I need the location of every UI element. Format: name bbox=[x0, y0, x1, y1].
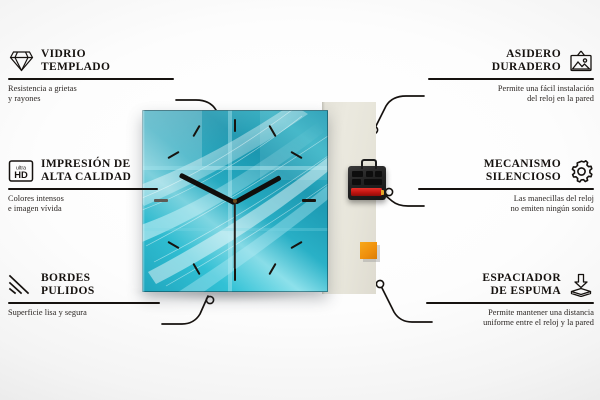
feature-description: Resistencia a grietas y rayones bbox=[8, 84, 204, 105]
feature-title: VIDRIO TEMPLADO bbox=[41, 48, 110, 74]
feature-espaciador-de-espuma: ESPACIADOR DE ESPUMA Permite mantener un… bbox=[398, 272, 594, 328]
feature-vidrio-templado: VIDRIO TEMPLADO Resistencia a grietas y … bbox=[8, 48, 204, 104]
feature-header: ultra HD IMPRESIÓN DE ALTA CALIDAD bbox=[8, 158, 204, 184]
infographic-canvas: VIDRIO TEMPLADO Resistencia a grietas y … bbox=[0, 0, 600, 400]
battery bbox=[351, 188, 382, 196]
feature-header: ESPACIADOR DE ESPUMA bbox=[398, 272, 594, 298]
foam-spacer bbox=[360, 242, 377, 259]
feature-description: Las manecillas del reloj no emiten ningú… bbox=[398, 194, 594, 215]
mechanism-slot-2 bbox=[366, 171, 373, 177]
diagonal-lines-icon bbox=[8, 272, 34, 298]
feature-impresion-alta-calidad: ultra HD IMPRESIÓN DE ALTA CALIDAD Color… bbox=[8, 158, 204, 214]
svg-text:HD: HD bbox=[14, 169, 28, 180]
feature-description: Superficie lisa y segura bbox=[8, 308, 204, 318]
node-espaciador bbox=[376, 280, 383, 287]
feature-description: Colores intensos e imagen vívida bbox=[8, 194, 204, 215]
feature-title: MECANISMO SILENCIOSO bbox=[484, 158, 561, 184]
feature-rule bbox=[8, 188, 158, 190]
feature-title: ESPACIADOR DE ESPUMA bbox=[482, 272, 561, 298]
gear-icon bbox=[568, 158, 594, 184]
feature-title: ASIDERO DURADERO bbox=[492, 48, 561, 74]
feature-rule bbox=[8, 78, 174, 80]
feature-rule bbox=[8, 302, 160, 304]
node-mecanismo bbox=[385, 188, 392, 195]
feature-bordes-pulidos: BORDES PULIDOS Superficie lisa y segura bbox=[8, 272, 204, 318]
picture-frame-icon bbox=[568, 48, 594, 74]
clock-mechanism bbox=[348, 166, 386, 200]
feature-description: Permite una fácil instalación del reloj … bbox=[398, 84, 594, 105]
feature-header: ASIDERO DURADERO bbox=[398, 48, 594, 74]
feature-rule bbox=[418, 188, 594, 190]
arrow-down-layers-icon bbox=[568, 272, 594, 298]
feature-asidero-duradero: ASIDERO DURADERO Permite una fácil insta… bbox=[398, 48, 594, 104]
feature-header: VIDRIO TEMPLADO bbox=[8, 48, 204, 74]
feature-mecanismo-silencioso: MECANISMO SILENCIOSO Las manecillas del … bbox=[398, 158, 594, 214]
feature-header: MECANISMO SILENCIOSO bbox=[398, 158, 594, 184]
mechanism-slot-1 bbox=[352, 171, 363, 177]
feature-rule bbox=[426, 302, 594, 304]
feature-description: Permite mantener una distancia uniforme … bbox=[398, 308, 594, 329]
feature-title: BORDES PULIDOS bbox=[41, 272, 95, 298]
mechanism-hook bbox=[361, 159, 377, 169]
feature-rule bbox=[428, 78, 594, 80]
diamond-icon bbox=[8, 48, 34, 74]
mechanism-slot-5 bbox=[364, 179, 382, 185]
feature-header: BORDES PULIDOS bbox=[8, 272, 204, 298]
mechanism-slot-3 bbox=[375, 171, 382, 177]
feature-title: IMPRESIÓN DE ALTA CALIDAD bbox=[41, 158, 131, 184]
ultra-hd-icon: ultra HD bbox=[8, 158, 34, 184]
mechanism-slot-4 bbox=[352, 179, 361, 185]
